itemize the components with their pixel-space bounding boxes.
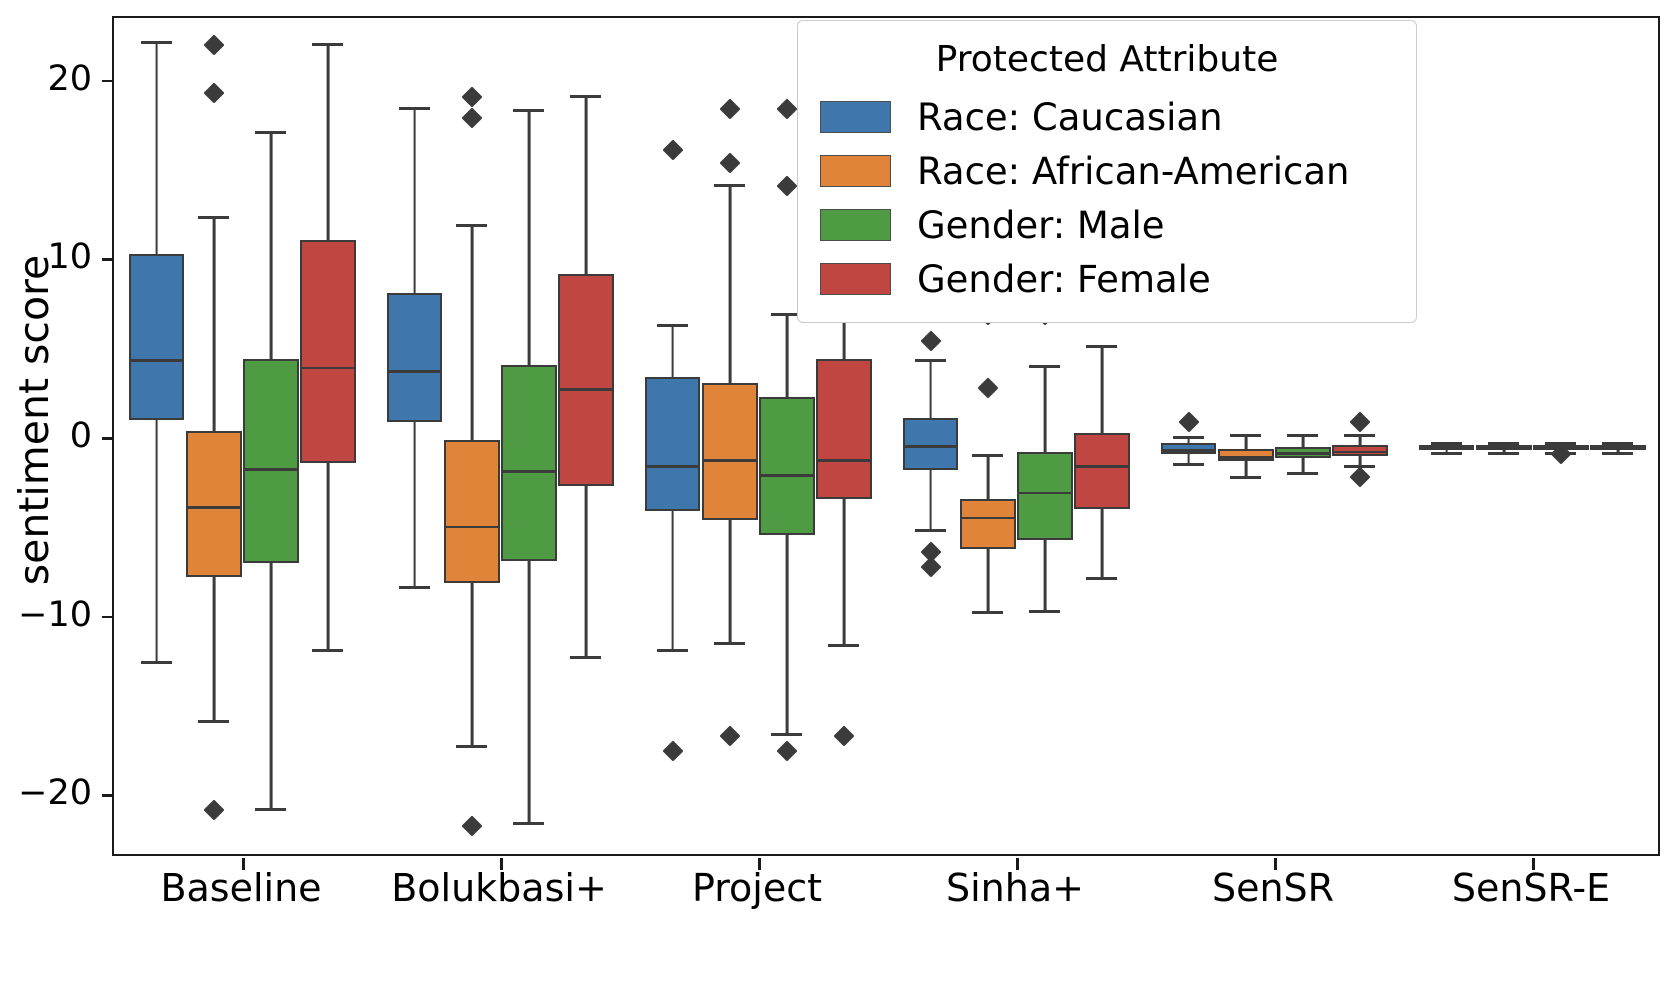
median-line bbox=[1074, 465, 1130, 468]
outlier-marker bbox=[1349, 467, 1370, 488]
whisker-lower bbox=[584, 486, 587, 656]
outlier-marker bbox=[461, 107, 482, 128]
whisker-cap-lower bbox=[915, 529, 946, 532]
whisker-lower bbox=[671, 511, 674, 649]
whisker-cap-upper bbox=[1086, 345, 1117, 348]
whisker-cap-upper bbox=[141, 41, 172, 44]
boxplot-box bbox=[1074, 433, 1130, 510]
whisker-cap-lower bbox=[1431, 452, 1462, 455]
whisker-cap-upper bbox=[399, 107, 430, 110]
whisker-cap-upper bbox=[513, 109, 544, 112]
boxplot-box bbox=[243, 359, 299, 563]
whisker-upper bbox=[986, 454, 989, 499]
whisker-upper bbox=[269, 131, 272, 360]
median-line bbox=[243, 468, 299, 471]
legend-entry: Race: Caucasian bbox=[820, 90, 1394, 144]
whisker-cap-upper bbox=[657, 324, 688, 327]
whisker-upper bbox=[212, 216, 215, 430]
boxplot-box bbox=[300, 240, 356, 463]
y-axis-tick-mark bbox=[102, 258, 114, 261]
whisker-lower bbox=[1301, 458, 1304, 472]
median-line bbox=[645, 465, 701, 468]
legend-color-swatch bbox=[820, 155, 891, 187]
whisker-cap-lower bbox=[1029, 610, 1060, 613]
whisker-cap-lower bbox=[1230, 476, 1261, 479]
whisker-cap-upper bbox=[972, 454, 1003, 457]
whisker-cap-lower bbox=[399, 586, 430, 589]
median-line bbox=[1218, 456, 1274, 459]
median-line bbox=[1590, 447, 1646, 450]
median-line bbox=[1275, 452, 1331, 455]
whisker-upper bbox=[929, 359, 932, 418]
outlier-marker bbox=[920, 556, 941, 577]
whisker-lower bbox=[413, 422, 416, 586]
whisker-lower bbox=[1100, 509, 1103, 577]
legend-color-swatch bbox=[820, 101, 891, 133]
outlier-marker bbox=[719, 99, 740, 120]
whisker-cap-upper bbox=[1488, 442, 1519, 445]
whisker-cap-upper bbox=[1602, 442, 1633, 445]
whisker-upper bbox=[1100, 345, 1103, 433]
y-axis-tick-mark bbox=[102, 437, 114, 440]
whisker-lower bbox=[1187, 454, 1190, 463]
whisker-lower bbox=[842, 499, 845, 644]
median-line bbox=[558, 388, 614, 391]
legend-entry-label: Gender: Female bbox=[917, 261, 1211, 298]
whisker-cap-lower bbox=[1488, 452, 1519, 455]
whisker-upper bbox=[326, 43, 329, 240]
boxplot-box bbox=[387, 293, 443, 422]
whisker-lower bbox=[728, 520, 731, 642]
outlier-marker bbox=[203, 82, 224, 103]
whisker-upper bbox=[728, 184, 731, 382]
legend-entry: Gender: Female bbox=[820, 252, 1394, 306]
whisker-cap-upper bbox=[915, 359, 946, 362]
outlier-marker bbox=[920, 331, 941, 352]
median-line bbox=[816, 459, 872, 462]
whisker-cap-lower bbox=[1287, 472, 1318, 475]
outlier-marker bbox=[977, 377, 998, 398]
y-axis-tick-label: 20 bbox=[0, 59, 92, 99]
whisker-lower bbox=[986, 549, 989, 612]
outlier-marker bbox=[461, 815, 482, 836]
x-axis-tick-label-sinha: Sinha+ bbox=[946, 866, 1084, 910]
legend-entry-label: Race: African-American bbox=[917, 153, 1350, 190]
whisker-cap-lower bbox=[771, 733, 802, 736]
legend: Protected Attribute Race: CaucasianRace:… bbox=[797, 20, 1417, 323]
whisker-cap-upper bbox=[1431, 442, 1462, 445]
outlier-marker bbox=[203, 799, 224, 820]
boxplot-box bbox=[129, 254, 185, 420]
median-line bbox=[1017, 492, 1073, 495]
outlier-marker bbox=[203, 34, 224, 55]
x-axis-tick-label-project: Project bbox=[692, 866, 822, 910]
whisker-cap-lower bbox=[828, 644, 859, 647]
boxplot-box bbox=[558, 274, 614, 487]
median-line bbox=[960, 517, 1016, 520]
whisker-upper bbox=[527, 109, 530, 365]
whisker-cap-upper bbox=[1287, 434, 1318, 437]
sentiment-boxplot-figure: sentiment score Protected Attribute Race… bbox=[0, 0, 1672, 984]
whisker-cap-lower bbox=[141, 661, 172, 664]
whisker-lower bbox=[470, 583, 473, 746]
y-axis-tick-label: −10 bbox=[0, 595, 92, 635]
median-line bbox=[129, 359, 185, 362]
outlier-marker bbox=[662, 740, 683, 761]
whisker-upper bbox=[413, 107, 416, 293]
boxplot-box bbox=[816, 359, 872, 498]
whisker-cap-lower bbox=[456, 745, 487, 748]
x-axis-tick-label-sensr-e: SenSR-E bbox=[1452, 866, 1610, 910]
whisker-cap-upper bbox=[1344, 434, 1375, 437]
whisker-upper bbox=[785, 313, 788, 397]
outlier-marker bbox=[719, 726, 740, 747]
legend-entry-label: Race: Caucasian bbox=[917, 99, 1223, 136]
median-line bbox=[702, 459, 758, 462]
median-line bbox=[501, 470, 557, 473]
whisker-cap-lower bbox=[570, 656, 601, 659]
whisker-lower bbox=[212, 577, 215, 720]
whisker-upper bbox=[671, 324, 674, 378]
whisker-cap-lower bbox=[312, 649, 343, 652]
boxplot-box bbox=[444, 440, 500, 583]
whisker-lower bbox=[269, 563, 272, 808]
median-line bbox=[1332, 451, 1388, 454]
legend-title: Protected Attribute bbox=[820, 39, 1394, 80]
median-line bbox=[387, 370, 443, 373]
whisker-upper bbox=[155, 41, 158, 254]
whisker-cap-lower bbox=[513, 822, 544, 825]
boxplot-box bbox=[1017, 452, 1073, 540]
median-line bbox=[759, 474, 815, 477]
boxplot-box bbox=[960, 499, 1016, 549]
whisker-upper bbox=[470, 224, 473, 440]
whisker-lower bbox=[785, 535, 788, 733]
whisker-cap-lower bbox=[972, 611, 1003, 614]
whisker-cap-upper bbox=[255, 131, 286, 134]
whisker-cap-lower bbox=[198, 720, 229, 723]
y-axis-tick-label: 10 bbox=[0, 237, 92, 277]
legend-entries: Race: CaucasianRace: African-AmericanGen… bbox=[820, 90, 1394, 306]
y-axis-tick-label: 0 bbox=[0, 416, 92, 456]
boxplot-box bbox=[645, 377, 701, 511]
median-line bbox=[300, 367, 356, 370]
outlier-marker bbox=[662, 140, 683, 161]
whisker-lower bbox=[1358, 456, 1361, 465]
y-axis-tick-label: −20 bbox=[0, 773, 92, 813]
outlier-marker bbox=[461, 86, 482, 107]
whisker-lower bbox=[929, 470, 932, 529]
x-axis-tick-label-baseline: Baseline bbox=[160, 866, 321, 910]
x-axis-tick-label-bolukbasi: Bolukbasi+ bbox=[391, 866, 607, 910]
whisker-cap-lower bbox=[1173, 463, 1204, 466]
whisker-cap-lower bbox=[714, 642, 745, 645]
legend-color-swatch bbox=[820, 263, 891, 295]
outlier-marker bbox=[776, 740, 797, 761]
legend-entry: Race: African-American bbox=[820, 144, 1394, 198]
outlier-marker bbox=[776, 175, 797, 196]
median-line bbox=[444, 526, 500, 529]
whisker-cap-lower bbox=[1602, 452, 1633, 455]
whisker-cap-lower bbox=[1086, 577, 1117, 580]
whisker-cap-upper bbox=[714, 184, 745, 187]
boxplot-box bbox=[759, 397, 815, 535]
outlier-marker bbox=[719, 152, 740, 173]
whisker-cap-upper bbox=[456, 224, 487, 227]
whisker-cap-lower bbox=[657, 649, 688, 652]
boxplot-box bbox=[501, 365, 557, 562]
median-line bbox=[1161, 449, 1217, 452]
whisker-lower bbox=[527, 561, 530, 822]
whisker-cap-upper bbox=[570, 95, 601, 98]
x-axis-tick-label-sensr: SenSR bbox=[1212, 866, 1334, 910]
median-line bbox=[903, 445, 959, 448]
whisker-cap-upper bbox=[1029, 365, 1060, 368]
legend-entry: Gender: Male bbox=[820, 198, 1394, 252]
boxplot-box bbox=[702, 383, 758, 521]
legend-entry-label: Gender: Male bbox=[917, 207, 1165, 244]
whisker-upper bbox=[584, 95, 587, 274]
outlier-marker bbox=[1178, 411, 1199, 432]
median-line bbox=[186, 506, 242, 509]
whisker-cap-upper bbox=[198, 216, 229, 219]
whisker-cap-upper bbox=[312, 43, 343, 46]
y-axis-tick-mark bbox=[102, 616, 114, 619]
whisker-cap-upper bbox=[1230, 434, 1261, 437]
whisker-upper bbox=[1043, 365, 1046, 453]
whisker-cap-upper bbox=[1173, 436, 1204, 439]
whisker-cap-lower bbox=[255, 808, 286, 811]
outlier-marker bbox=[1349, 411, 1370, 432]
outlier-marker bbox=[833, 726, 854, 747]
legend-color-swatch bbox=[820, 209, 891, 241]
boxplot-box bbox=[186, 431, 242, 578]
median-line bbox=[1476, 447, 1532, 450]
y-axis-tick-mark bbox=[102, 794, 114, 797]
median-line bbox=[1419, 447, 1475, 450]
whisker-lower bbox=[1043, 540, 1046, 610]
whisker-lower bbox=[1244, 461, 1247, 475]
outlier-marker bbox=[776, 99, 797, 120]
whisker-lower bbox=[326, 463, 329, 649]
y-axis-tick-mark bbox=[102, 80, 114, 83]
whisker-lower bbox=[155, 420, 158, 661]
